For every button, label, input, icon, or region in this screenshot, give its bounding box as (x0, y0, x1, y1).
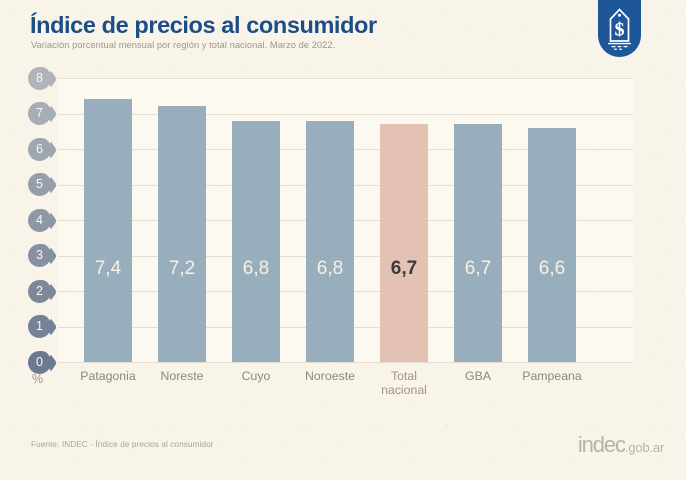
source-note: Fuente: INDEC - Índice de precios al con… (31, 440, 214, 449)
y-tick-value: 2 (28, 280, 51, 303)
x-label-noreste: Noreste (142, 369, 222, 383)
page-title: Índice de precios al consumidor (30, 12, 377, 39)
logo-tld: .gob.ar (625, 440, 664, 455)
x-label-line: Total (364, 369, 444, 383)
bar-value-label: 6,6 (528, 258, 576, 280)
price-tag-dollar-glyph: S (598, 0, 641, 57)
gridline (58, 362, 633, 363)
y-tick-value: 8 (28, 67, 51, 90)
price-tag-dollar-icon: S (598, 0, 641, 57)
bar-fill (528, 128, 576, 362)
y-axis-tick-4: 4 (28, 209, 58, 232)
bar-noroeste[interactable]: 6,8 (306, 121, 354, 362)
bar-fill (158, 106, 206, 362)
y-tick-value: 6 (28, 138, 51, 161)
bar-fill (380, 124, 428, 362)
bar-patagonia[interactable]: 7,4 (84, 99, 132, 362)
y-axis-tick-8: 8 (28, 67, 58, 90)
x-label-gba: GBA (438, 369, 518, 383)
bar-fill (84, 99, 132, 362)
y-tick-value: 3 (28, 244, 51, 267)
bar-value-label: 6,7 (454, 258, 502, 280)
header: Índice de precios al consumidor Variació… (0, 0, 686, 66)
y-axis-unit-label: % (32, 372, 43, 386)
y-tick-value: 0 (28, 351, 51, 374)
bar-value-label: 6,8 (232, 258, 280, 280)
bar-noreste[interactable]: 7,2 (158, 106, 206, 362)
y-tick-value: 4 (28, 209, 51, 232)
bar-value-label: 7,4 (84, 258, 132, 280)
x-label-patagonia: Patagonia (68, 369, 148, 383)
bar-value-label: 7,2 (158, 258, 206, 280)
bar-pampeana[interactable]: 6,6 (528, 128, 576, 362)
y-tick-value: 1 (28, 315, 51, 338)
gridline (58, 114, 633, 115)
gridline (58, 78, 633, 79)
x-label-line: Cuyo (216, 369, 296, 383)
x-label-line: Patagonia (68, 369, 148, 383)
x-label-line: nacional (364, 383, 444, 397)
x-label-line: Noroeste (290, 369, 370, 383)
x-label-line: GBA (438, 369, 518, 383)
bar-fill (454, 124, 502, 362)
bar-cuyo[interactable]: 6,8 (232, 121, 280, 362)
y-axis-tick-3: 3 (28, 244, 58, 267)
x-label-line: Noreste (142, 369, 222, 383)
bar-value-label: 6,7 (380, 258, 428, 280)
y-axis-tick-0: 0 (28, 351, 58, 374)
bar-fill (306, 121, 354, 362)
x-label-cuyo: Cuyo (216, 369, 296, 383)
logo-wordmark: indec (578, 432, 625, 457)
y-axis-tick-1: 1 (28, 315, 58, 338)
bar-fill (232, 121, 280, 362)
infographic-page: Índice de precios al consumidor Variació… (0, 0, 686, 480)
x-label-noroeste: Noroeste (290, 369, 370, 383)
y-axis-tick-5: 5 (28, 173, 58, 196)
x-label-line: Pampeana (512, 369, 592, 383)
x-label-pampeana: Pampeana (512, 369, 592, 383)
y-tick-value: 7 (28, 102, 51, 125)
page-subtitle: Variación porcentual mensual por región … (31, 40, 335, 50)
y-axis-tick-7: 7 (28, 102, 58, 125)
bar-value-label: 6,8 (306, 258, 354, 280)
y-tick-value: 5 (28, 173, 51, 196)
y-axis-tick-6: 6 (28, 138, 58, 161)
bar-gba[interactable]: 6,7 (454, 124, 502, 362)
indec-website-logo[interactable]: indec.gob.ar (578, 432, 664, 458)
y-axis-tick-2: 2 (28, 280, 58, 303)
x-label-total-nacional: Totalnacional (364, 369, 444, 397)
bar-total-nacional[interactable]: 6,7 (380, 124, 428, 362)
